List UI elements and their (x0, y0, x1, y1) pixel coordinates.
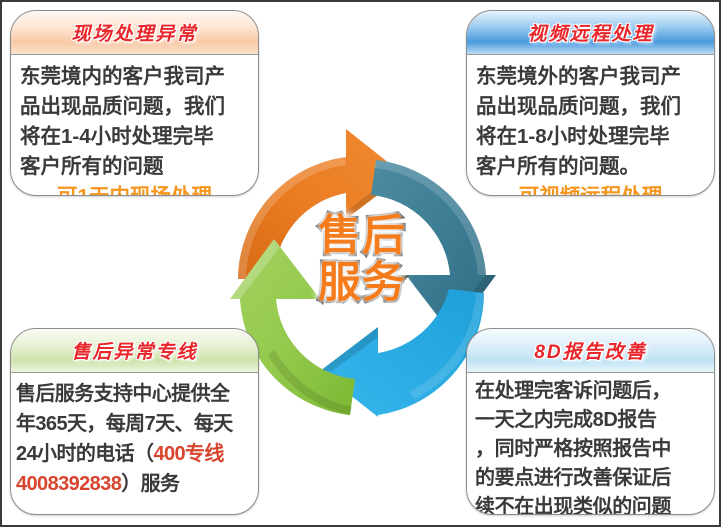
text-run: 24小时的电话（ (16, 443, 153, 465)
text-run: 年365天，每周7天、每天 (16, 413, 233, 435)
card-text-line: 年365天，每周7天、每天 (16, 409, 253, 439)
card-onsite-handling[interactable]: 现场处理异常 东莞境内的客户我司产 品出现品质问题，我们 将在1-4小时处理完毕… (10, 10, 259, 196)
card-text-line: 品出现品质问题，我们 (476, 92, 705, 122)
card-text-line: 客户所有的问题 (20, 152, 249, 182)
card-body: 售后服务支持中心提供全 年365天，每周7天、每天 24小时的电话（400专线 … (11, 373, 258, 503)
card-footer-highlight: 可1天内现场处理 (20, 182, 249, 196)
card-title: 8D报告改善 (534, 337, 646, 364)
card-text-line: 将在1-4小时处理完毕 (20, 122, 249, 152)
card-text-line: 在处理完客诉问题后， (475, 377, 706, 406)
card-aftersales-hotline[interactable]: 售后异常专线 售后服务支持中心提供全 年365天，每周7天、每天 24小时的电话… (10, 328, 259, 515)
text-run: ）服务 (121, 473, 179, 495)
card-body: 在处理完客诉问题后， 一天之内完成8D报告 ，同时严格按照报告中 的要点进行改善… (467, 373, 714, 515)
card-video-remote-handling[interactable]: 视频远程处理 东莞境外的客户我司产 品出现品质问题，我们 将在1-8小时处理完毕… (466, 10, 715, 196)
card-text-line: 一天之内完成8D报告 (475, 406, 706, 435)
card-text-line: 客户所有的问题。 (476, 152, 705, 182)
card-header: 视频远程处理 (467, 11, 714, 55)
card-header: 8D报告改善 (467, 329, 714, 373)
card-footer-highlight: 可视频远程处理 (476, 182, 705, 196)
card-text-line: ，同时严格按照报告中 (475, 435, 706, 464)
card-title: 售后异常专线 (71, 337, 197, 364)
card-text-line: 品出现品质问题，我们 (20, 92, 249, 122)
card-text-line: 将在1-8小时处理完毕 (476, 122, 705, 152)
card-text-line: 4008392838）服务 (16, 469, 253, 499)
card-body: 东莞境内的客户我司产 品出现品质问题，我们 将在1-4小时处理完毕 客户所有的问… (11, 55, 258, 196)
card-header: 售后异常专线 (11, 329, 258, 373)
card-text-line: 东莞境内的客户我司产 (20, 62, 249, 92)
card-title: 视频远程处理 (527, 19, 653, 46)
card-text-line: 24小时的电话（400专线 (16, 439, 253, 469)
service-cycle-diagram: 售后 服务 (228, 127, 496, 417)
card-text-line: 续不在出现类似的问题 (475, 493, 706, 515)
text-run: 售后服务支持中心提供全 (16, 383, 229, 405)
hotline-label: 400专线 (153, 443, 223, 465)
card-text-line: 的要点进行改善保证后 (475, 464, 706, 493)
card-title: 现场处理异常 (71, 19, 197, 46)
card-header: 现场处理异常 (11, 11, 258, 55)
service-cycle-infographic: 售后 服务 现场处理异常 东莞境内的客户我司产 品出现品质问题，我们 将在1-4… (0, 0, 721, 527)
card-text-line: 售后服务支持中心提供全 (16, 379, 253, 409)
card-body: 东莞境外的客户我司产 品出现品质问题，我们 将在1-8小时处理完毕 客户所有的问… (467, 55, 714, 196)
card-text-line: 东莞境外的客户我司产 (476, 62, 705, 92)
hotline-number: 4008392838 (16, 473, 121, 495)
card-8d-report-improvement[interactable]: 8D报告改善 在处理完客诉问题后， 一天之内完成8D报告 ，同时严格按照报告中 … (466, 328, 715, 515)
